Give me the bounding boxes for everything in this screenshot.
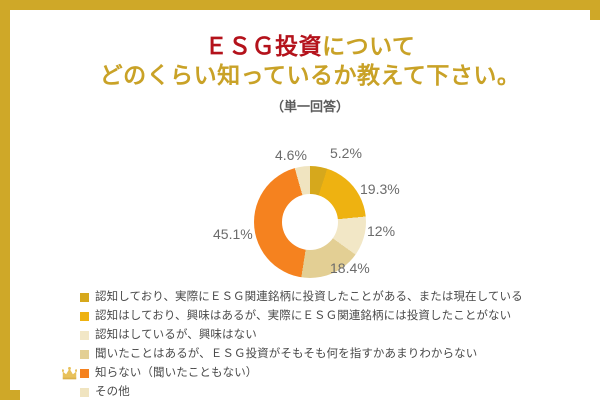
slice-label-interested: 19.3% <box>360 181 400 197</box>
donut-chart <box>20 138 600 288</box>
title-accent: ＥＳＧ投資 <box>205 33 323 59</box>
legend-item[interactable]: 認知しており、実際にＥＳＧ関連銘柄に投資したことがある、または現在している <box>80 288 580 307</box>
legend-swatch <box>80 293 89 302</box>
legend: 認知しており、実際にＥＳＧ関連銘柄に投資したことがある、または現在している認知は… <box>80 288 580 402</box>
donut-hole <box>282 194 338 250</box>
slice-label-heard-only: 18.4% <box>330 260 370 276</box>
slice-label-other: 4.6% <box>275 147 307 163</box>
legend-item-label: その他 <box>95 383 130 402</box>
legend-item-label: 知らない（聞いたこともない） <box>95 364 257 383</box>
legend-item-label: 聞いたことはあるが、ＥＳＧ投資がそもそも何を指すかあまりわからない <box>95 345 477 364</box>
slice-label-invested: 5.2% <box>330 145 362 161</box>
legend-item[interactable]: その他 <box>80 383 580 402</box>
legend-item-label: 認知しており、実際にＥＳＧ関連銘柄に投資したことがある、または現在している <box>95 288 523 307</box>
legend-swatch <box>80 331 89 340</box>
legend-item[interactable]: 知らない（聞いたこともない） <box>80 364 580 383</box>
legend-item[interactable]: 聞いたことはあるが、ＥＳＧ投資がそもそも何を指すかあまりわからない <box>80 345 580 364</box>
title-block: ＥＳＧ投資について どのくらい知っているか教えて下さい。 （単一回答） <box>20 32 600 115</box>
legend-swatch <box>80 388 89 397</box>
legend-item-label: 認知はしているが、興味はない <box>95 326 257 345</box>
legend-swatch <box>80 369 89 378</box>
slice-label-not-interested: 12% <box>367 223 395 239</box>
crown-icon <box>62 367 77 380</box>
title-subtitle: （単一回答） <box>20 96 600 115</box>
legend-item[interactable]: 認知はしており、興味はあるが、実際にＥＳＧ関連銘柄には投資したことがない <box>80 307 580 326</box>
poster-canvas: ＥＳＧ投資について どのくらい知っているか教えて下さい。 （単一回答） 4.6%… <box>20 20 600 400</box>
legend-swatch <box>80 350 89 359</box>
poster-frame: ＥＳＧ投資について どのくらい知っているか教えて下さい。 （単一回答） 4.6%… <box>0 0 600 400</box>
title-line-2: どのくらい知っているか教えて下さい。 <box>20 61 600 90</box>
title-rest: について <box>322 33 415 59</box>
legend-item[interactable]: 認知はしているが、興味はない <box>80 326 580 345</box>
legend-item-label: 認知はしており、興味はあるが、実際にＥＳＧ関連銘柄には投資したことがない <box>95 307 511 326</box>
legend-swatch <box>80 312 89 321</box>
title-line-1: ＥＳＧ投資について <box>20 32 600 61</box>
slice-label-unknown: 45.1% <box>213 226 253 242</box>
